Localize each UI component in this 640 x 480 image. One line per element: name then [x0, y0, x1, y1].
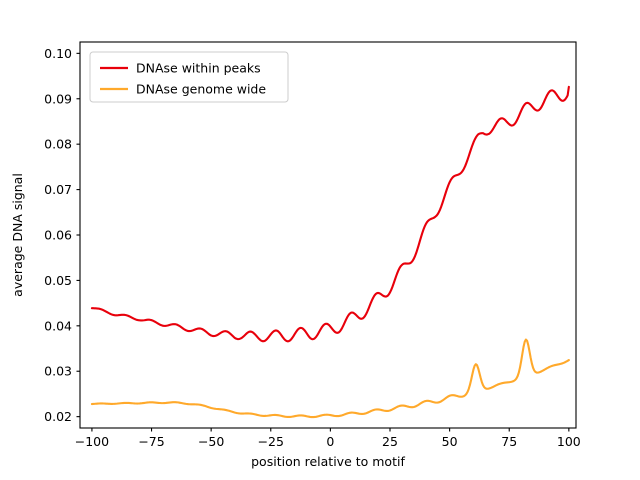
x-axis-label: position relative to motif	[251, 454, 405, 469]
x-tick-label: 100	[557, 434, 581, 449]
y-tick-label: 0.10	[44, 46, 72, 61]
x-tick-label: 75	[501, 434, 517, 449]
x-tick-label: −25	[258, 434, 284, 449]
chart-svg: −100−75−50−250255075100 0.020.030.040.05…	[0, 0, 640, 480]
legend-label-genome-wide: DNAse genome wide	[136, 82, 266, 97]
y-tick-label: 0.09	[44, 91, 72, 106]
y-tick-label: 0.05	[44, 273, 72, 288]
x-tick-label: −50	[198, 434, 224, 449]
y-tick-label: 0.08	[44, 137, 72, 152]
figure-canvas: −100−75−50−250255075100 0.020.030.040.05…	[0, 0, 640, 480]
y-tick-label: 0.07	[44, 182, 72, 197]
chart-legend: DNAse within peaksDNAse genome wide	[90, 52, 288, 102]
y-tick-label: 0.06	[44, 228, 72, 243]
y-tick-label: 0.02	[44, 409, 72, 424]
x-tick-label: −100	[75, 434, 109, 449]
y-tick-label: 0.03	[44, 364, 72, 379]
x-tick-label: 50	[442, 434, 458, 449]
legend-label-within-peaks: DNAse within peaks	[136, 61, 261, 76]
x-tick-label: 0	[326, 434, 334, 449]
y-tick-label: 0.04	[44, 318, 72, 333]
x-tick-label: 25	[382, 434, 398, 449]
y-axis-label: average DNA signal	[10, 173, 25, 297]
x-tick-label: −75	[138, 434, 164, 449]
